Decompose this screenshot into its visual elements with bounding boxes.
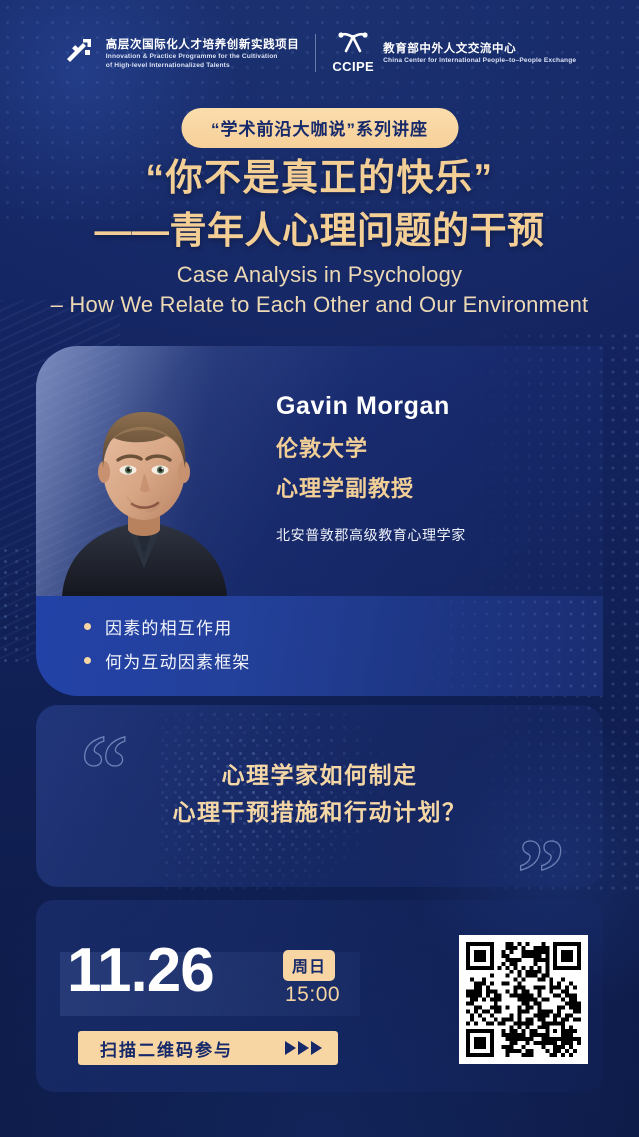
poster-root: 高层次国际化人才培养创新实践项目 Innovation & Practice P… (0, 0, 639, 1137)
speaker-role-group: 伦敦大学 心理学副教授 (276, 434, 606, 513)
ccipe-figure-icon (337, 31, 369, 58)
arrow-right-icon (298, 1041, 309, 1055)
speaker-position: 心理学副教授 (276, 474, 414, 504)
quote-close-icon: ” (517, 825, 565, 887)
gavin-morgan-portrait (56, 382, 232, 596)
series-badge: “学术前沿大咖说”系列讲座 (181, 108, 458, 148)
list-item: 何为互动因素框架 (84, 648, 251, 673)
speaker-affiliation: 伦敦大学 (276, 434, 368, 464)
cta-arrows-group (285, 1041, 322, 1055)
subtitle-line-1: Case Analysis in Psychology (0, 260, 639, 290)
scan-qr-cta-button[interactable]: 扫描二维码参与 (78, 1031, 338, 1065)
right-logo-block: CCIPE 教育部中外人文交流中心 China Center for Inter… (332, 31, 576, 74)
ccipe-logo-group: CCIPE (332, 31, 374, 74)
ccipe-acronym: CCIPE (332, 59, 374, 74)
weekday-badge: 周日 (283, 950, 335, 981)
speaker-info: Gavin Morgan 伦敦大学 心理学副教授 北安普敦郡高级教育心理学家 (276, 392, 606, 545)
left-logo-title-en-line2: of High-level Internationalized Talents (106, 62, 300, 71)
right-logo-title-en: China Center for International People–to… (383, 57, 576, 66)
topics-list: 因素的相互作用 何为互动因素框架 (84, 614, 251, 682)
arrow-right-icon (311, 1041, 322, 1055)
topic-label: 因素的相互作用 (105, 614, 232, 639)
quote-panel: “ ” 心理学家如何制定 心理干预措施和行动计划？ (36, 705, 603, 887)
speaker-name: Gavin Morgan (276, 392, 606, 421)
topics-card: 因素的相互作用 何为互动因素框架 (36, 596, 603, 696)
quote-line-2: 心理干预措施和行动计划？ (36, 794, 603, 831)
header-logo-bar: 高层次国际化人才培养创新实践项目 Innovation & Practice P… (0, 31, 639, 74)
avatar (56, 382, 232, 596)
registration-qr-code-icon (466, 942, 581, 1057)
left-logo-title-en-line1: Innovation & Practice Programme for the … (106, 53, 300, 62)
speaker-credential: 北安普敦郡高级教育心理学家 (276, 525, 606, 545)
event-date: 11.26 (67, 940, 214, 1002)
page-title: “你不是真正的快乐” ——青年人心理问题的干预 (0, 152, 639, 257)
right-logo-title-cn: 教育部中外人文交流中心 (383, 43, 516, 55)
page-subtitle: Case Analysis in Psychology – How We Rel… (0, 260, 639, 321)
arrow-right-icon (285, 1041, 296, 1055)
left-logo-title-cn: 高层次国际化人才培养创新实践项目 (106, 39, 300, 51)
title-line-2: ——青年人心理问题的干预 (0, 205, 639, 258)
bullet-dot-icon (84, 657, 91, 664)
left-logo-block: 高层次国际化人才培养创新实践项目 Innovation & Practice P… (63, 33, 300, 72)
logo-divider (315, 34, 316, 72)
bullet-dot-icon (84, 623, 91, 630)
topic-label: 何为互动因素框架 (105, 648, 251, 673)
left-logo-text-group: 高层次国际化人才培养创新实践项目 Innovation & Practice P… (106, 35, 300, 71)
cta-label: 扫描二维码参与 (100, 1036, 233, 1061)
event-time: 15:00 (285, 983, 340, 1007)
running-person-arrow-icon (63, 33, 97, 72)
quote-line-1: 心理学家如何制定 (36, 757, 603, 794)
title-line-1: “你不是真正的快乐” (146, 157, 494, 198)
right-logo-text-group: 教育部中外人文交流中心 China Center for Internation… (383, 39, 576, 66)
quote-text: 心理学家如何制定 心理干预措施和行动计划？ (36, 757, 603, 832)
list-item: 因素的相互作用 (84, 614, 251, 639)
qr-code[interactable] (459, 935, 588, 1064)
topics-dot-pattern (373, 596, 603, 696)
subtitle-line-2: – How We Relate to Each Other and Our En… (0, 290, 639, 320)
